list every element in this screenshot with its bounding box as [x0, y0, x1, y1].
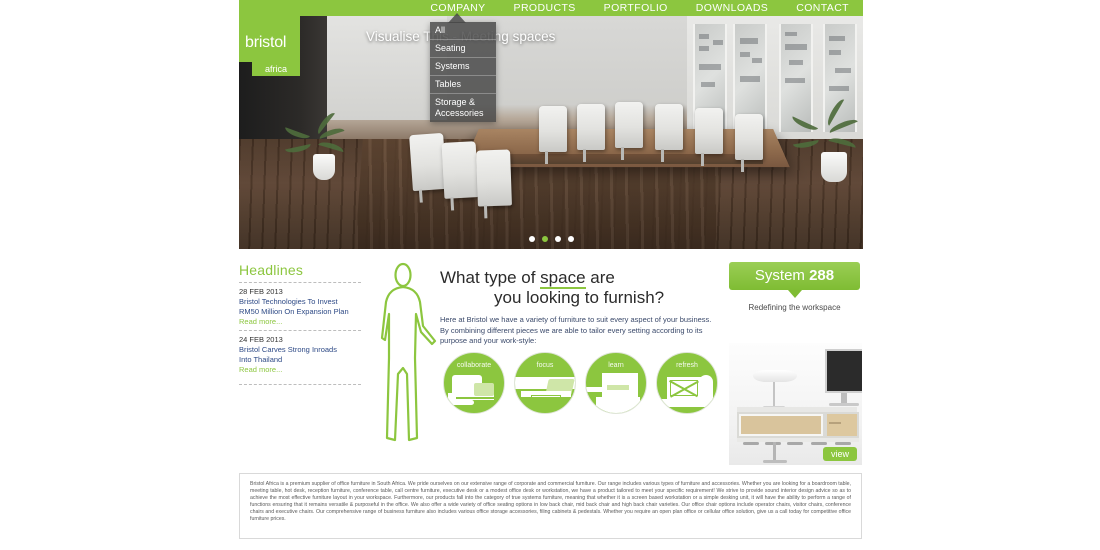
office-chair — [539, 106, 567, 152]
divider — [239, 330, 361, 331]
hero-slideshow: Visualise This - Meeting spaces — [239, 16, 863, 249]
headline-item: 24 FEB 2013 Bristol Carves Strong Inroad… — [239, 335, 361, 375]
headline-item: 28 FEB 2013 Bristol Technologies To Inve… — [239, 287, 361, 327]
office-chair — [735, 114, 763, 160]
system-banner[interactable]: System 288 — [729, 262, 860, 290]
system-banner-number: 288 — [809, 267, 834, 284]
category-label: focus — [515, 362, 575, 369]
main-body-text: Here at Bristol we have a variety of fur… — [440, 315, 712, 347]
slide-dot-4[interactable] — [568, 236, 574, 242]
headline-read-more-link[interactable]: Read more... — [239, 316, 361, 327]
system-tagline: Redefining the workspace — [729, 303, 860, 312]
office-chair — [442, 141, 479, 199]
headline-date: 28 FEB 2013 — [239, 287, 361, 297]
footer-text: Bristol Africa is a premium supplier of … — [250, 481, 851, 524]
heading-line-2: you looking to furnish? — [440, 288, 712, 308]
main-content-block: What type of space are you looking to fu… — [440, 268, 712, 347]
slide-dot-3[interactable] — [555, 236, 561, 242]
category-collaborate[interactable]: collaborate — [443, 352, 505, 414]
meeting-table-edge — [495, 154, 763, 164]
dropdown-item-systems[interactable]: Systems — [430, 58, 496, 76]
person-silhouette-icon — [376, 262, 442, 448]
headline-title-line2: Into Thailand — [239, 355, 361, 365]
office-chair — [655, 104, 683, 150]
office-chair — [409, 133, 447, 191]
divider — [239, 384, 361, 385]
view-button[interactable]: view — [823, 447, 857, 461]
office-chair — [615, 102, 643, 148]
dropdown-item-seating[interactable]: Seating — [430, 40, 496, 58]
divider — [239, 282, 361, 283]
nav-item-contact[interactable]: CONTACT — [782, 0, 863, 16]
heading-highlight-space: space — [540, 268, 585, 289]
window-pane — [779, 24, 813, 132]
dropdown-pointer-icon — [448, 13, 466, 23]
headlines-panel: Headlines 28 FEB 2013 Bristol Technologi… — [239, 262, 361, 389]
window-pane — [823, 24, 857, 132]
heading-part-2: are — [586, 268, 615, 287]
category-learn[interactable]: learn — [585, 352, 647, 414]
dropdown-item-storage[interactable]: Storage & Accessories — [430, 94, 496, 122]
office-chair — [695, 108, 723, 154]
category-label: learn — [586, 362, 646, 369]
office-chair — [577, 104, 605, 150]
logo-text[interactable]: bristol — [239, 34, 300, 52]
main-heading: What type of space are you looking to fu… — [440, 268, 712, 308]
category-focus[interactable]: focus — [514, 352, 576, 414]
logo-block[interactable] — [239, 0, 300, 62]
category-label: refresh — [657, 362, 717, 369]
category-circles: collaborate focus learn refresh — [443, 352, 718, 414]
product-image[interactable]: view — [729, 343, 862, 465]
slideshow-pagination — [239, 236, 863, 242]
headline-read-more-link[interactable]: Read more... — [239, 364, 361, 375]
office-chair — [476, 149, 512, 206]
heading-part-1: What type of — [440, 268, 540, 287]
logo-region-tag: africa — [252, 62, 300, 76]
slide-dot-2[interactable] — [542, 236, 548, 242]
dropdown-item-all[interactable]: All — [430, 22, 496, 40]
footer-seo-text-box: Bristol Africa is a premium supplier of … — [239, 473, 862, 539]
main-navigation: COMPANY PRODUCTS PORTFOLIO DOWNLOADS CON… — [239, 0, 863, 16]
headline-title-line1: Bristol Technologies To Invest — [239, 297, 361, 307]
dropdown-item-tables[interactable]: Tables — [430, 76, 496, 94]
headline-title-line1: Bristol Carves Strong Inroads — [239, 345, 361, 355]
system-banner-prefix: System — [755, 267, 809, 284]
headline-date: 24 FEB 2013 — [239, 335, 361, 345]
nav-item-portfolio[interactable]: PORTFOLIO — [590, 0, 682, 16]
headlines-title: Headlines — [239, 262, 361, 278]
nav-item-downloads[interactable]: DOWNLOADS — [682, 0, 782, 16]
page-root: COMPANY PRODUCTS PORTFOLIO DOWNLOADS CON… — [0, 0, 1100, 550]
category-refresh[interactable]: refresh — [656, 352, 718, 414]
products-dropdown-menu: All Seating Systems Tables Storage & Acc… — [430, 22, 496, 122]
category-label: collaborate — [444, 362, 504, 369]
nav-item-products[interactable]: PRODUCTS — [500, 0, 590, 16]
headline-title-line2: RM50 Million On Expansion Plan — [239, 307, 361, 317]
slide-dot-1[interactable] — [529, 236, 535, 242]
